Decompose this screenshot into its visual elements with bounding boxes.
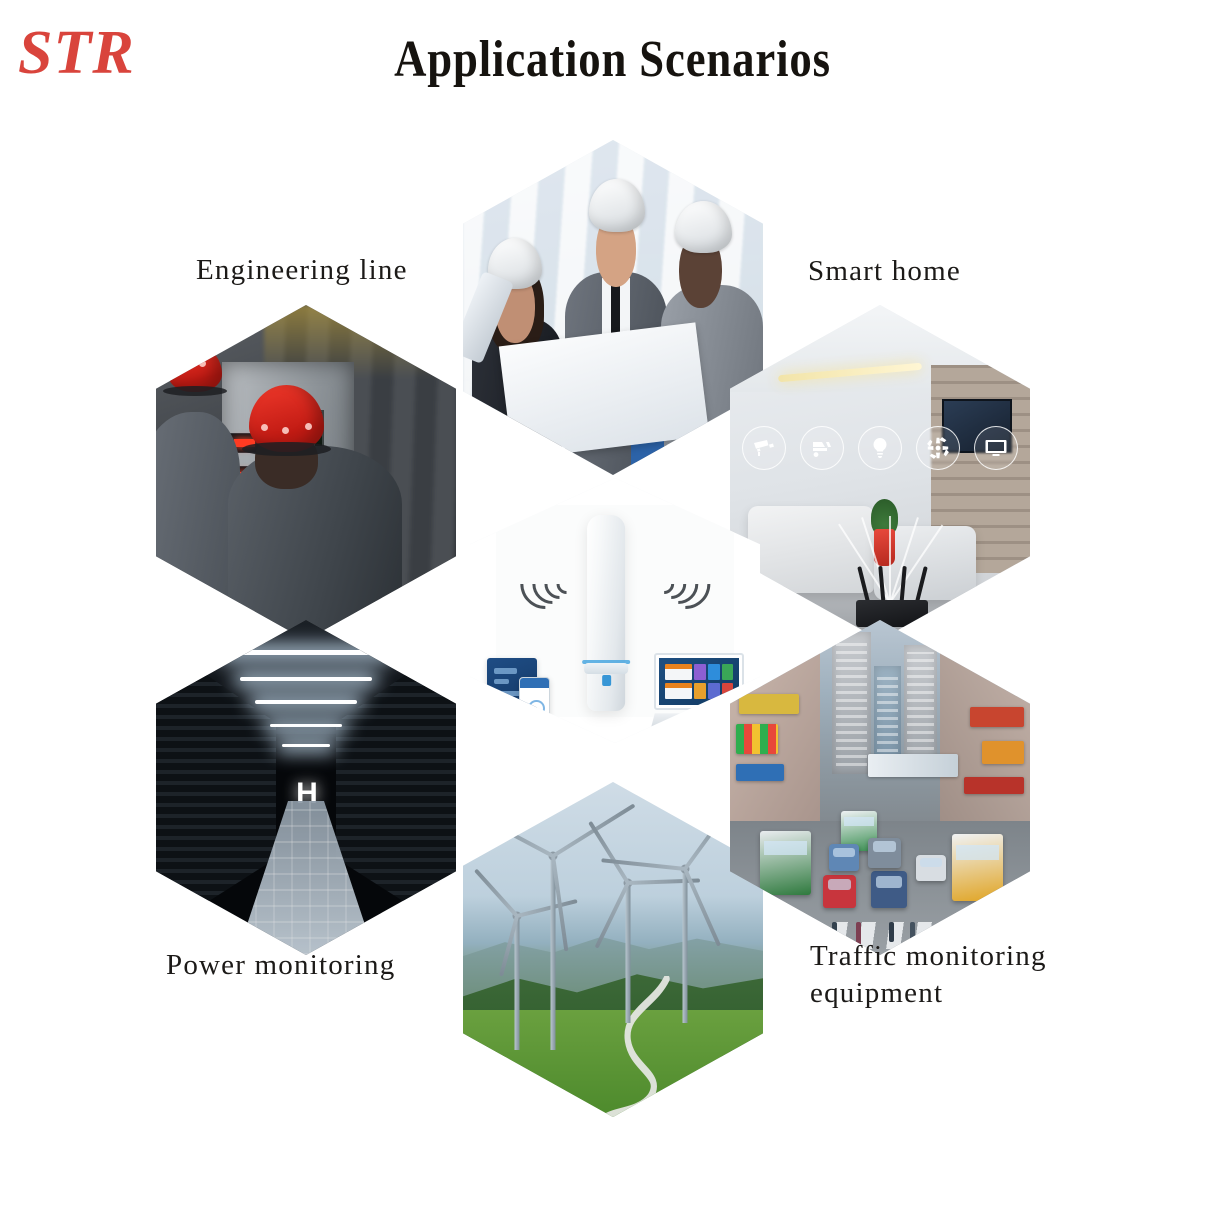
monitor-icon[interactable] [974, 426, 1018, 470]
pedestrian [781, 922, 786, 942]
phone-status-bar [520, 678, 549, 688]
car [916, 855, 946, 882]
scene-engineering-line [156, 305, 456, 640]
tile [708, 664, 719, 681]
car [871, 871, 907, 908]
double-decker-bus [760, 831, 811, 895]
security-camera-icon[interactable] [742, 426, 786, 470]
turbine-blade [474, 869, 518, 918]
tile [694, 664, 705, 681]
label-smart-home: Smart home [808, 253, 961, 290]
desktop-windows [665, 664, 692, 699]
hexagon-engineering-line[interactable] [156, 305, 456, 640]
page-title: Application Scenarios [86, 30, 1140, 89]
ceiling-light [282, 744, 330, 747]
turbine-blade [588, 820, 630, 883]
scene-wind-farm [463, 782, 763, 1117]
hexagon-traffic-monitoring[interactable] [730, 620, 1030, 955]
scene-smart-home [730, 305, 1030, 640]
scene-product [470, 478, 760, 743]
pedestrian [799, 922, 804, 945]
turbine-blade [517, 899, 578, 918]
hexagon-product-center[interactable] [470, 478, 760, 743]
hexagon-engineering-meeting[interactable] [463, 140, 763, 475]
shop-signage [964, 777, 1024, 794]
tile [722, 683, 733, 700]
label-traffic-monitoring: Traffic monitoring equipment [810, 938, 1047, 1012]
device-led-indicator [602, 675, 611, 686]
tile-grid [694, 664, 733, 699]
signal-beam [889, 516, 891, 603]
blueprint-sheet [499, 323, 709, 460]
ceiling-light [222, 650, 390, 655]
ceiling-light [240, 677, 372, 681]
white-hard-hat-icon [589, 179, 644, 231]
scene-engineering-meeting [463, 140, 763, 475]
device-base-collar [584, 663, 628, 674]
light-bulb-icon[interactable] [858, 426, 902, 470]
ceiling-light [255, 700, 357, 704]
laptop-lid [654, 653, 745, 710]
car [823, 875, 856, 909]
tile [722, 664, 733, 681]
shop-signage [739, 694, 799, 714]
red-hard-hat-icon [168, 345, 222, 392]
fan-icon[interactable] [916, 426, 960, 470]
high-rise [832, 632, 871, 774]
hexagon-wind-energy[interactable] [463, 782, 763, 1117]
winding-road [583, 976, 685, 1117]
cpe-router-device [587, 515, 625, 711]
wireless-router [856, 600, 928, 627]
turbine-mast [683, 869, 688, 1023]
scene-data-center: H [156, 620, 456, 955]
shop-signage [970, 707, 1024, 727]
overhead-billboard [868, 754, 958, 777]
hexagon-power-monitoring[interactable]: H [156, 620, 456, 955]
hexagon-smart-home[interactable] [730, 305, 1030, 640]
turbine-blade [683, 800, 736, 870]
car [829, 844, 859, 871]
turbine-blade [467, 809, 554, 858]
turbine-blade [683, 868, 721, 946]
laptop-display [659, 658, 740, 705]
scene-city-traffic [730, 620, 1030, 955]
white-hard-hat-icon [675, 201, 732, 253]
shop-signage [736, 764, 784, 781]
double-decker-bus [952, 834, 1003, 901]
label-power-monitoring: Power monitoring [166, 947, 395, 984]
phone-dial-widget [528, 700, 545, 717]
app-window [665, 664, 692, 680]
ceiling-light [270, 724, 342, 727]
smart-device-icon-bar [742, 426, 1018, 470]
tile [708, 683, 719, 700]
shop-signage [736, 724, 778, 754]
wifi-signal-icon [543, 526, 581, 584]
label-engineering-line: Engineering line [196, 252, 408, 289]
car [868, 838, 901, 868]
smartphone-device [519, 677, 550, 735]
helmet-brim [163, 386, 227, 396]
turbine-mast [626, 883, 631, 1024]
app-window [665, 683, 692, 699]
appliance-icon[interactable] [800, 426, 844, 470]
turbine-mast [515, 916, 520, 1050]
wifi-signal-icon [650, 526, 688, 584]
tile [694, 683, 705, 700]
infographic-canvas: STR Application Scenarios [0, 0, 1225, 1225]
shop-signage [982, 741, 1024, 764]
